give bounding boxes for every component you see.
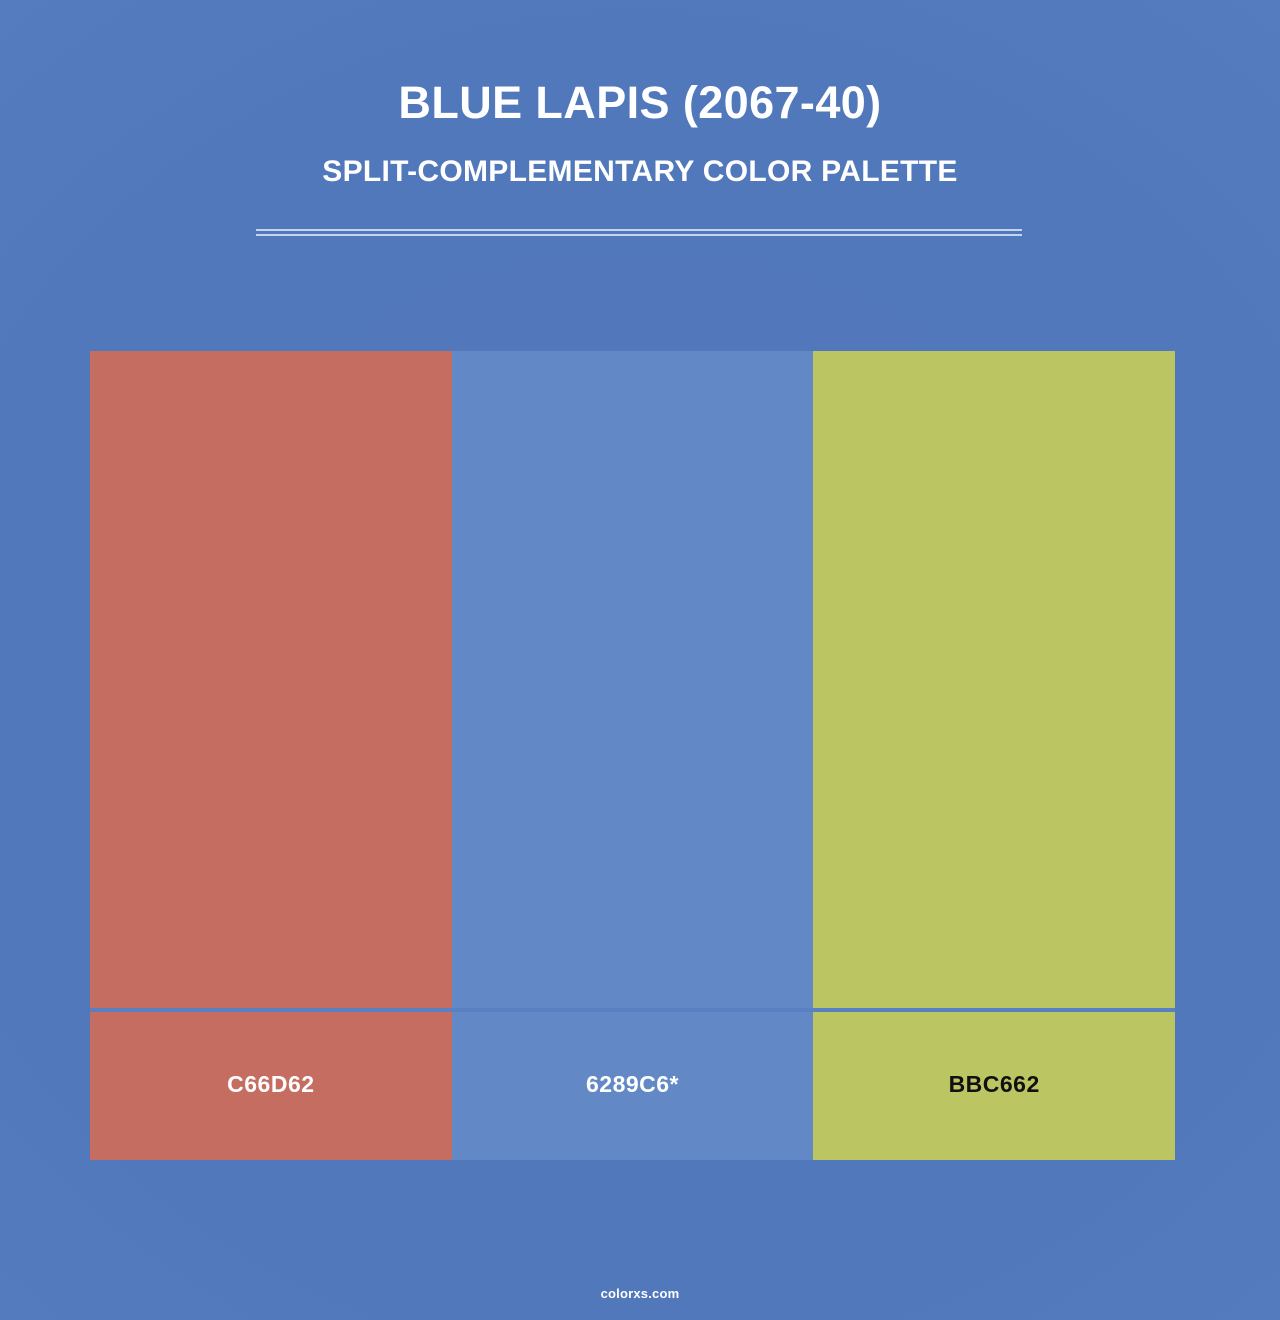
page-background: BLUE LAPIS (2067-40) SPLIT-COMPLEMENTARY… (0, 0, 1280, 1320)
swatch-hex-label-1: C66D62 (90, 1012, 452, 1160)
color-swatch-3[interactable]: BBC662 (813, 351, 1175, 1160)
swatch-color-area-1[interactable] (90, 351, 452, 1008)
divider-line-top (256, 229, 1022, 231)
divider-line-bottom (256, 234, 1022, 236)
swatch-color-area-2[interactable] (452, 351, 814, 1008)
page-subtitle: SPLIT-COMPLEMENTARY COLOR PALETTE (0, 154, 1280, 190)
color-swatch-1[interactable]: C66D62 (90, 351, 452, 1160)
swatch-hex-label-3: BBC662 (813, 1012, 1175, 1160)
header: BLUE LAPIS (2067-40) SPLIT-COMPLEMENTARY… (0, 0, 1280, 190)
title-divider (256, 229, 1022, 237)
swatch-hex-label-2: 6289C6* (452, 1012, 814, 1160)
footer-site-name: colorxs.com (0, 1286, 1280, 1301)
page-title: BLUE LAPIS (2067-40) (0, 76, 1280, 130)
color-palette: C66D62 6289C6* BBC662 (90, 351, 1175, 1160)
swatch-color-area-3[interactable] (813, 351, 1175, 1008)
color-swatch-2[interactable]: 6289C6* (452, 351, 814, 1160)
